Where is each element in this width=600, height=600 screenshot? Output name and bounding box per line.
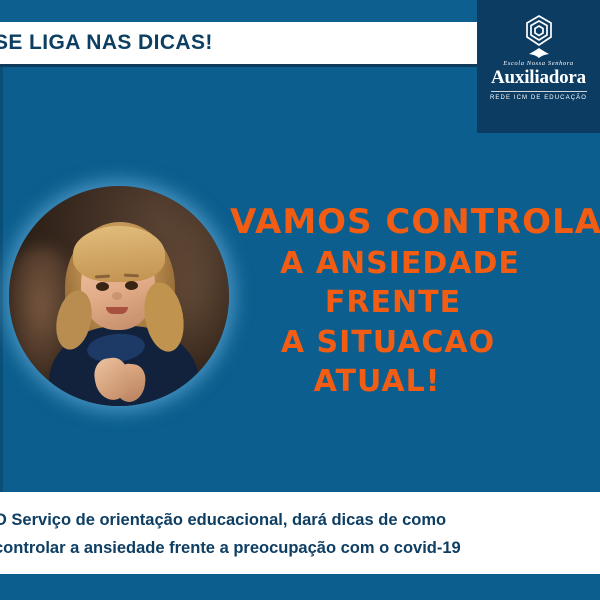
headline-text: SE LIGA NAS DICAS!: [0, 31, 213, 55]
main-message-line-3: FRENTE: [186, 288, 600, 319]
main-message-line-2: A ANSIEDADE: [200, 249, 600, 280]
bottom-message-line-2: controlar a ansiedade frente a preocupaç…: [0, 530, 600, 558]
main-message-line-4: A SITUACAO: [176, 328, 600, 359]
footer-strip: [0, 574, 600, 600]
bottom-message-line-1: O Serviço de orientação educacional, dar…: [0, 492, 600, 530]
poster-canvas: SE LIGA NAS DICAS! Escola Nossa Senhora …: [0, 0, 600, 600]
panel-left-edge: [0, 67, 3, 492]
child-hair-front: [73, 226, 165, 282]
monogram-icon: [516, 12, 562, 58]
child-eye-right: [125, 281, 138, 290]
child-eye-left: [96, 282, 109, 291]
child-mouth: [106, 307, 128, 314]
logo-line-rede-icm: REDE ICM DE EDUCAÇÃO: [477, 95, 600, 101]
school-logo-block: Escola Nossa Senhora Auxiliadora REDE IC…: [477, 0, 600, 133]
main-message-line-5: ATUAL!: [154, 367, 600, 398]
main-message: VAMOS CONTROLAR A ANSIEDADE FRENTE A SIT…: [228, 205, 600, 398]
bottom-message-block: O Serviço de orientação educacional, dar…: [0, 492, 600, 574]
logo-divider: [491, 91, 587, 92]
headline-banner: SE LIGA NAS DICAS!: [0, 22, 480, 64]
logo-line-auxiliadora: Auxiliadora: [477, 68, 600, 88]
logo-line-escola: Escola Nossa Senhora: [477, 60, 600, 67]
main-message-line-1: VAMOS CONTROLAR: [230, 205, 600, 240]
child-nose: [112, 292, 122, 300]
